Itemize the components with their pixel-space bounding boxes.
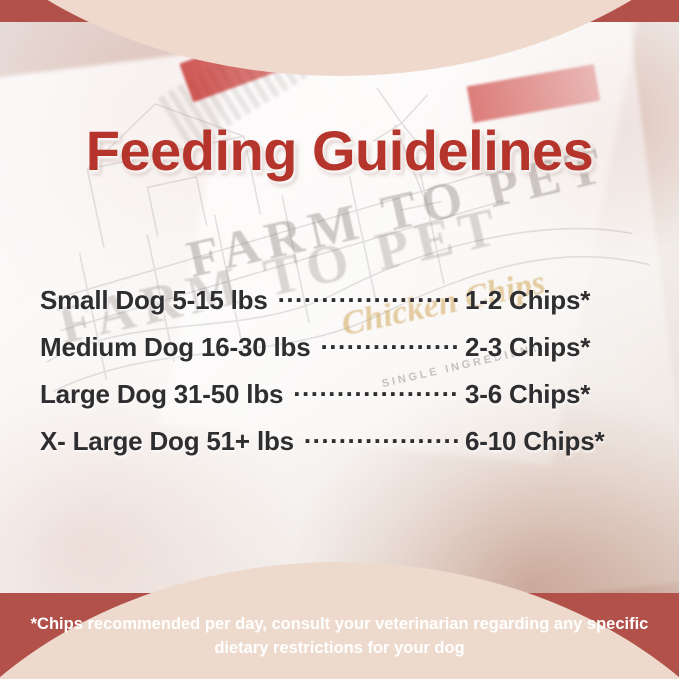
leader-dots: [293, 377, 459, 403]
table-row: Small Dog 5-15 lbs 1-2 Chips*: [40, 283, 641, 330]
content-layer: Feeding Guidelines Small Dog 5-15 lbs 1-…: [0, 0, 679, 679]
dog-size-label: X- Large Dog 51+ lbs: [40, 426, 294, 457]
feeding-guidelines-table: Small Dog 5-15 lbs 1-2 Chips* Medium Dog…: [40, 283, 641, 471]
leader-dots: [278, 283, 459, 309]
dog-size-label: Small Dog 5-15 lbs: [40, 285, 268, 316]
leader-dots: [321, 330, 460, 356]
leader-dots: [304, 424, 459, 450]
table-row: X- Large Dog 51+ lbs 6-10 Chips*: [40, 424, 641, 471]
page-title: Feeding Guidelines: [0, 118, 679, 183]
table-row: Large Dog 31-50 lbs 3-6 Chips*: [40, 377, 641, 424]
feeding-guidelines-infographic: FARM TO PET FARM TO PET Chicken Chips SI…: [0, 0, 679, 679]
chip-amount-value: 1-2 Chips*: [465, 285, 641, 316]
table-row: Medium Dog 16-30 lbs 2-3 Chips*: [40, 330, 641, 377]
chip-amount-value: 6-10 Chips*: [465, 426, 641, 457]
dog-size-label: Medium Dog 16-30 lbs: [40, 332, 311, 363]
chip-amount-value: 3-6 Chips*: [465, 379, 641, 410]
chip-amount-value: 2-3 Chips*: [465, 332, 641, 363]
footnote-disclaimer: *Chips recommended per day, consult your…: [0, 613, 679, 661]
dog-size-label: Large Dog 31-50 lbs: [40, 379, 283, 410]
